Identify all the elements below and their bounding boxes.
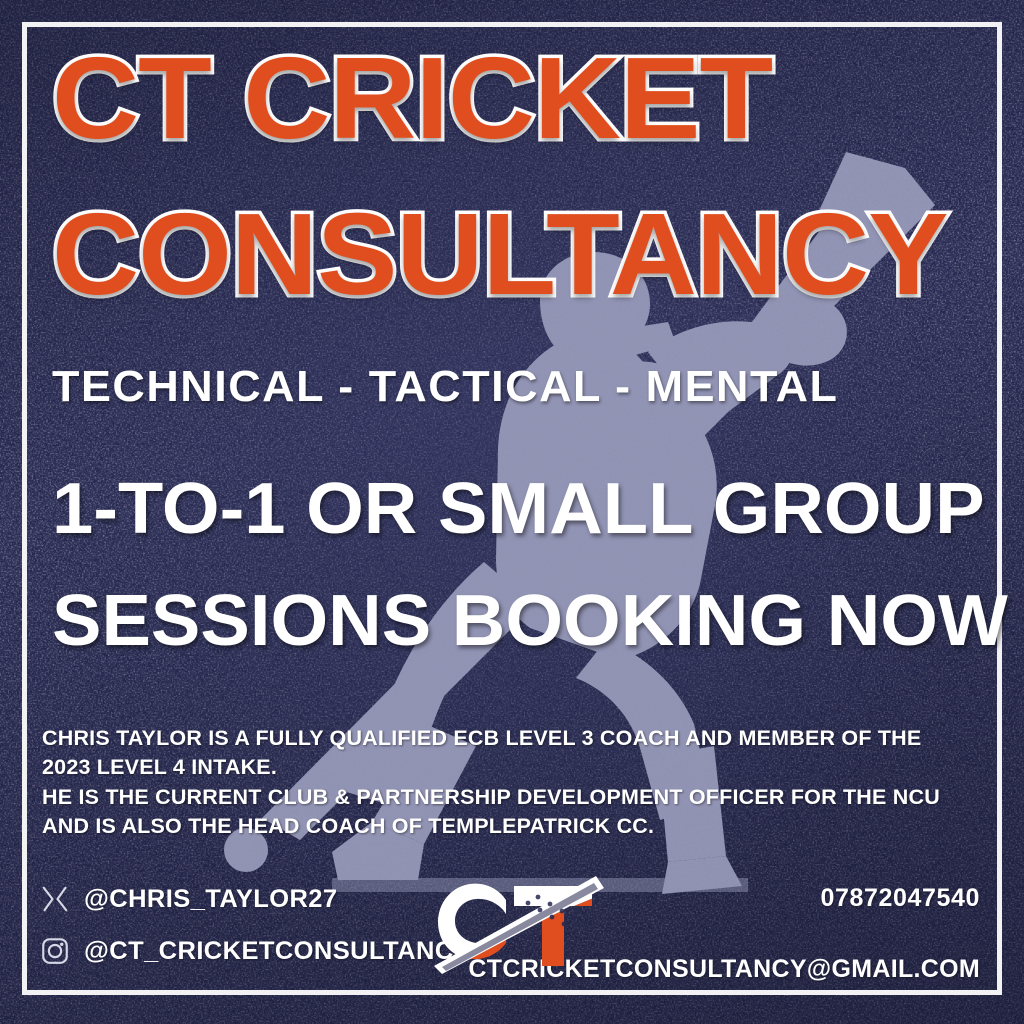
- instagram-handle: @CT_CRICKETCONSULTANCY: [84, 937, 471, 966]
- brand-title-line1: CT CRICKET: [52, 42, 1019, 156]
- headline-line2: SESSIONS BOOKING NOW: [52, 580, 1010, 662]
- social-contacts: @CHRIS_TAYLOR27 @CT_CRICKETCONSULTANCY: [40, 884, 460, 966]
- tagline: TECHNICAL - TACTICAL - MENTAL: [52, 362, 838, 412]
- ct-monogram-logo: [428, 866, 608, 974]
- poster-canvas: CT CRICKET CONSULTANCY TECHNICAL - TACTI…: [0, 0, 1024, 1024]
- brand-title-line2: CONSULTANCY: [52, 198, 1019, 312]
- instagram-icon[interactable]: [40, 936, 70, 966]
- bio-text: CHRIS TAYLOR IS A FULLY QUALIFIED ECB LE…: [42, 724, 952, 840]
- twitter-contact-row[interactable]: @CHRIS_TAYLOR27: [40, 884, 460, 914]
- bio-paragraph-2: HE IS THE CURRENT CLUB & PARTNERSHIP DEV…: [42, 783, 952, 840]
- headline-line1: 1-TO-1 OR SMALL GROUP: [52, 468, 1010, 550]
- twitter-handle: @CHRIS_TAYLOR27: [84, 885, 337, 914]
- instagram-contact-row[interactable]: @CT_CRICKETCONSULTANCY: [40, 936, 460, 966]
- bio-paragraph-1: CHRIS TAYLOR IS A FULLY QUALIFIED ECB LE…: [42, 724, 952, 781]
- x-twitter-icon[interactable]: [40, 884, 70, 914]
